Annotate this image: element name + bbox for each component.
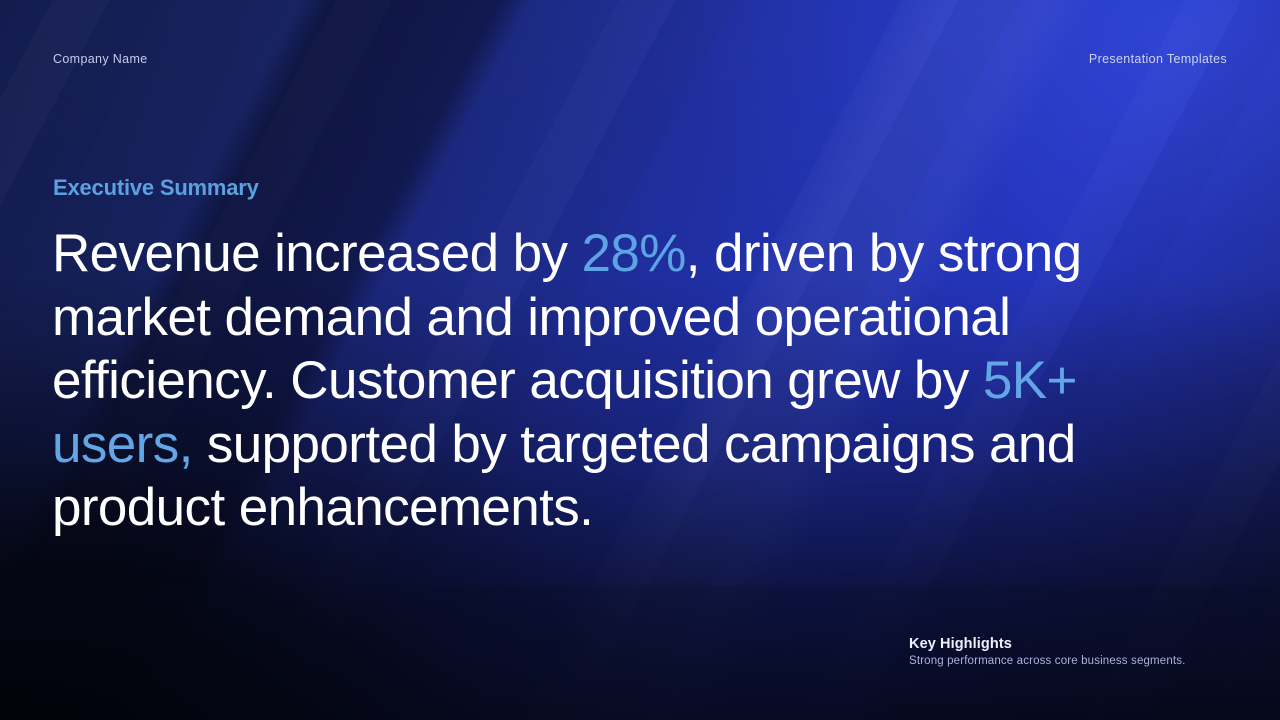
- presentation-slide: Company Name Presentation Templates Exec…: [0, 0, 1280, 720]
- headline-metric-revenue: 28%: [582, 224, 686, 283]
- headline-segment-1: Revenue increased by: [52, 224, 582, 283]
- company-name-label: Company Name: [53, 52, 148, 66]
- presentation-templates-label: Presentation Templates: [1089, 52, 1227, 66]
- slide-content: Company Name Presentation Templates Exec…: [0, 0, 1280, 720]
- key-highlights-subtitle: Strong performance across core business …: [909, 655, 1227, 667]
- headline-statement: Revenue increased by 28%, driven by stro…: [52, 222, 1132, 540]
- section-eyebrow-label: Executive Summary: [53, 175, 259, 201]
- key-highlights-title: Key Highlights: [909, 636, 1227, 652]
- headline-segment-3: supported by targeted campaigns and prod…: [52, 415, 1076, 538]
- key-highlights-block: Key Highlights Strong performance across…: [909, 636, 1227, 667]
